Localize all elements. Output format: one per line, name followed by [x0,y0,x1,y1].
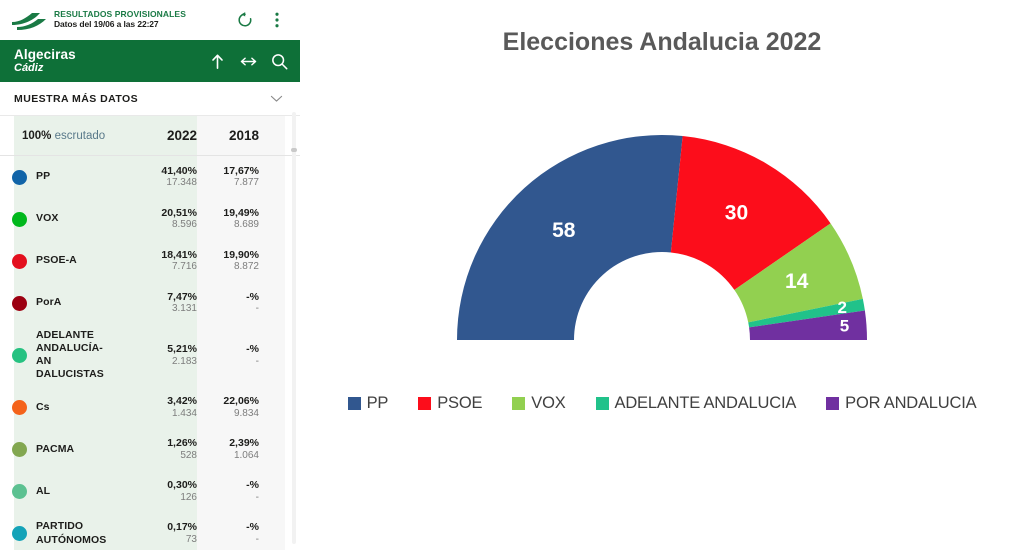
percent-2018: 2,39% [197,437,259,450]
party-name: PP [36,170,50,183]
percent-2018: 17,67% [197,165,259,178]
cell-2018: 2,39%1.064 [197,437,285,462]
party-cell: VOX [0,212,118,227]
percent-2018: 19,90% [197,249,259,262]
party-cell: Cs [0,400,118,415]
results-scrollbar-thumb[interactable] [291,148,297,152]
votes-2018: - [197,534,259,546]
andalucia-swoosh-logo [8,7,48,33]
votes-2018: - [197,492,259,504]
percent-2018: 22,06% [197,395,259,408]
column-header-2022[interactable]: 2022 [118,128,197,143]
legend-label: PP [367,394,389,413]
table-row[interactable]: AL0,30%126-%- [0,471,300,513]
results-scrollbar-track[interactable] [292,112,296,544]
location-bar: Algeciras Cádiz [0,40,300,82]
cell-2018: -%- [197,291,285,316]
screenshot-root: RESULTADOS PROVISIONALES Datos del 19/06… [0,0,1024,550]
party-color-dot [12,254,27,269]
percent-2022: 7,47% [118,291,197,304]
legend-label: POR ANDALUCIA [845,394,976,413]
votes-2022: 3.131 [118,303,197,315]
party-cell: ADELANTE ANDALUCÍA-AN DALUCISTAS [0,329,118,382]
party-name: PSOE-A [36,254,77,267]
scrutiny-header: 100% escrutado [0,130,118,142]
legend-swatch [348,397,361,410]
percent-2018: 19,49% [197,207,259,220]
overflow-menu-icon[interactable] [268,11,286,29]
cell-2022: 7,47%3.131 [118,291,197,316]
table-row[interactable]: PorA7,47%3.131-%- [0,282,300,324]
segment-value-label: 5 [840,316,849,335]
results-table: 100% escrutado 2022 2018 PP41,40%17.3481… [0,116,300,550]
party-cell: AL [0,484,118,499]
table-row[interactable]: PARTIDO AUTÓNOMOS0,17%73-%- [0,513,300,550]
table-row[interactable]: PSOE-A18,41%7.71619,90%8.872 [0,240,300,282]
widget-header-actions [236,11,290,29]
results-table-body: PP41,40%17.34817,67%7.877VOX20,51%8.5961… [0,156,300,550]
location-city: Algeciras [14,47,208,63]
cell-2022: 0,30%126 [118,479,197,504]
party-cell: PSOE-A [0,254,118,269]
percent-2022: 1,26% [118,437,197,450]
votes-2018: - [197,303,259,315]
column-header-2018[interactable]: 2018 [197,128,285,143]
percent-2018: -% [197,521,259,534]
cell-2022: 1,26%528 [118,437,197,462]
scrutiny-word: escrutado [55,130,106,142]
table-row[interactable]: PACMA1,26%5282,39%1.064 [0,429,300,471]
cell-2022: 18,41%7.716 [118,249,197,274]
results-table-header: 100% escrutado 2022 2018 [0,116,300,156]
chart-title: Elecciones Andalucia 2022 [300,28,1024,57]
party-color-dot [12,170,27,185]
votes-2022: 73 [118,534,197,546]
legend-item[interactable]: PSOE [418,394,482,413]
arrow-up-icon[interactable] [208,52,226,70]
segment-value-label: 30 [725,201,748,224]
percent-2022: 20,51% [118,207,197,220]
percent-2022: 41,40% [118,165,197,178]
party-cell: PorA [0,296,118,311]
chart-legend: PPPSOEVOXADELANTE ANDALUCIAPOR ANDALUCIA [300,394,1024,413]
cell-2018: -%- [197,343,285,368]
percent-2022: 3,42% [118,395,197,408]
location-bar-actions [208,52,288,70]
votes-2018: - [197,356,259,368]
party-name: AL [36,485,50,498]
legend-item[interactable]: VOX [512,394,565,413]
votes-2022: 2.183 [118,356,197,368]
cell-2018: -%- [197,521,285,546]
chevron-down-icon[interactable] [268,90,286,108]
legend-swatch [512,397,525,410]
legend-swatch [596,397,609,410]
location-text: Algeciras Cádiz [14,47,208,75]
party-name: Cs [36,401,50,414]
votes-2018: 7.877 [197,177,259,189]
votes-2022: 17.348 [118,177,197,189]
party-cell: PP [0,170,118,185]
cell-2022: 5,21%2.183 [118,343,197,368]
percent-2018: -% [197,291,259,304]
half-donut-chart: 58301425 [412,92,912,352]
votes-2022: 528 [118,450,197,462]
legend-label: PSOE [437,394,482,413]
cell-2022: 41,40%17.348 [118,165,197,190]
cell-2022: 0,17%73 [118,521,197,546]
party-color-dot [12,348,27,363]
legend-item[interactable]: PP [348,394,389,413]
percent-2022: 5,21% [118,343,197,356]
party-name: ADELANTE ANDALUCÍA-AN DALUCISTAS [36,329,118,382]
cell-2018: 22,06%9.834 [197,395,285,420]
legend-item[interactable]: ADELANTE ANDALUCIA [596,394,797,413]
cell-2018: 19,90%8.872 [197,249,285,274]
party-name: PARTIDO AUTÓNOMOS [36,520,118,546]
percent-2018: -% [197,343,259,356]
party-name: PorA [36,296,62,309]
party-name: VOX [36,212,58,225]
search-icon[interactable] [270,52,288,70]
party-color-dot [12,442,27,457]
cell-2022: 20,51%8.596 [118,207,197,232]
refresh-icon[interactable] [236,11,254,29]
cell-2018: 19,49%8.689 [197,207,285,232]
segment-value-label: 58 [552,219,576,242]
widget-header: RESULTADOS PROVISIONALES Datos del 19/06… [0,0,300,40]
segment-value-label: 14 [785,270,809,293]
party-color-dot [12,212,27,227]
legend-item[interactable]: POR ANDALUCIA [826,394,976,413]
percent-2022: 18,41% [118,249,197,262]
show-more-data-row[interactable]: MUESTRA MÁS DATOS [0,82,300,116]
show-more-data-label: MUESTRA MÁS DATOS [14,93,268,105]
seats-chart-panel: Elecciones Andalucia 2022 58301425 PPPSO… [300,0,1024,550]
table-row[interactable]: Cs3,42%1.43422,06%9.834 [0,387,300,429]
brand-text: RESULTADOS PROVISIONALES Datos del 19/06… [54,10,236,30]
percent-2022: 0,30% [118,479,197,492]
arrows-horizontal-icon[interactable] [239,52,257,70]
party-color-dot [12,296,27,311]
election-results-widget: RESULTADOS PROVISIONALES Datos del 19/06… [0,0,300,550]
scrutiny-percent: 100% [22,130,51,142]
party-cell: PACMA [0,442,118,457]
legend-swatch [418,397,431,410]
party-color-dot [12,400,27,415]
votes-2018: 9.834 [197,408,259,420]
legend-label: VOX [531,394,565,413]
percent-2018: -% [197,479,259,492]
votes-2018: 8.872 [197,261,259,273]
legend-swatch [826,397,839,410]
cell-2018: 17,67%7.877 [197,165,285,190]
votes-2018: 1.064 [197,450,259,462]
percent-2022: 0,17% [118,521,197,534]
votes-2022: 8.596 [118,219,197,231]
party-name: PACMA [36,443,74,456]
table-row[interactable]: ADELANTE ANDALUCÍA-AN DALUCISTAS5,21%2.1… [0,324,300,387]
table-row[interactable]: VOX20,51%8.59619,49%8.689 [0,198,300,240]
party-color-dot [12,526,27,541]
cell-2022: 3,42%1.434 [118,395,197,420]
votes-2022: 126 [118,492,197,504]
party-cell: PARTIDO AUTÓNOMOS [0,520,118,546]
party-color-dot [12,484,27,499]
results-timestamp: Datos del 19/06 a las 22:27 [54,20,236,30]
table-row[interactable]: PP41,40%17.34817,67%7.877 [0,156,300,198]
votes-2018: 8.689 [197,219,259,231]
legend-label: ADELANTE ANDALUCIA [615,394,797,413]
votes-2022: 1.434 [118,408,197,420]
cell-2018: -%- [197,479,285,504]
votes-2022: 7.716 [118,261,197,273]
location-province: Cádiz [14,62,208,75]
